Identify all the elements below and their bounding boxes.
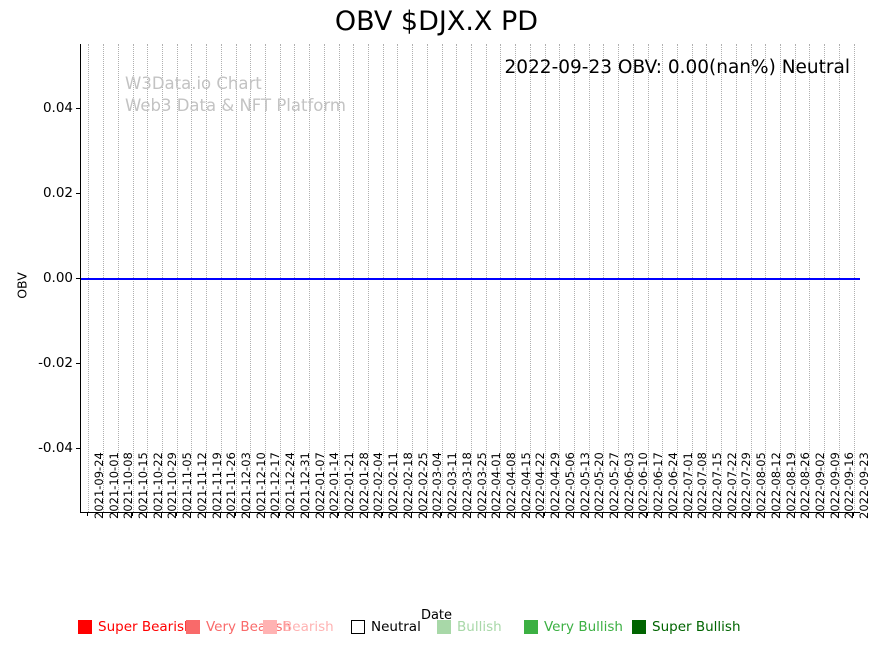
legend-swatch-icon <box>437 620 451 634</box>
plot-area: W3Data.io Chart Web3 Data & NFT Platform… <box>80 44 860 512</box>
x-axis-tick-label: 2021-10-08 <box>121 452 135 519</box>
legend-swatch-icon <box>524 620 538 634</box>
legend-swatch-icon <box>263 620 277 634</box>
x-axis-tick-mark <box>691 512 692 516</box>
x-axis-tick-label: 2022-01-14 <box>327 452 341 519</box>
x-axis-tick-mark <box>514 512 515 516</box>
chart-figure: OBV $DJX.X PD 0.040.020.00-0.02-0.04 OBV… <box>0 0 873 646</box>
x-axis-tick-label: 2022-03-11 <box>445 452 459 519</box>
legend-swatch-icon <box>351 620 365 634</box>
legend-label: Super Bearish <box>98 619 193 635</box>
x-axis-tick-label: 2022-07-08 <box>695 452 709 519</box>
legend-label: Very Bullish <box>544 619 623 635</box>
x-axis-tick-mark <box>264 512 265 516</box>
x-axis-tick-mark <box>573 512 574 516</box>
y-axis-label: OBV <box>15 256 30 316</box>
x-axis-tick-label: 2021-10-29 <box>165 452 179 519</box>
x-axis-tick-label: 2022-03-04 <box>430 452 444 519</box>
x-axis-tick-mark <box>161 512 162 516</box>
x-axis-tick-label: 2021-11-26 <box>224 452 238 519</box>
x-axis-tick-label: 2021-12-10 <box>254 452 268 519</box>
x-axis-tick-label: 2022-05-06 <box>563 452 577 519</box>
x-axis-tick-label: 2022-04-22 <box>533 452 547 519</box>
legend-item[interactable]: Super Bearish <box>78 619 193 635</box>
x-axis-tick-mark <box>750 512 751 516</box>
legend-swatch-icon <box>78 620 92 634</box>
x-axis-tick-mark <box>794 512 795 516</box>
y-axis-tick-label: 0.02 <box>3 185 73 201</box>
x-axis-tick-label: 2022-05-13 <box>578 452 592 519</box>
x-axis-tick-label: 2022-08-12 <box>769 452 783 519</box>
x-axis-tick-label: 2021-11-19 <box>210 452 224 519</box>
x-axis-tick-mark <box>764 512 765 516</box>
x-axis-tick-label: 2021-12-31 <box>298 452 312 519</box>
x-axis-tick-label: 2022-06-24 <box>666 452 680 519</box>
x-axis-tick-label: 2022-06-17 <box>651 452 665 519</box>
legend-swatch-icon <box>186 620 200 634</box>
x-axis-tick-mark <box>676 512 677 516</box>
x-axis-tick-mark <box>308 512 309 516</box>
x-axis-tick-label: 2022-05-27 <box>607 452 621 519</box>
legend-label: Neutral <box>371 619 421 635</box>
x-axis-tick-label: 2021-12-03 <box>239 452 253 519</box>
legend-label: Bullish <box>457 619 502 635</box>
x-axis-tick-label: 2022-07-01 <box>681 452 695 519</box>
x-axis-tick-label: 2022-07-22 <box>725 452 739 519</box>
x-axis-tick-mark <box>602 512 603 516</box>
x-axis-tick-mark <box>470 512 471 516</box>
x-axis-tick-label: 2021-10-22 <box>151 452 165 519</box>
x-axis-tick-label: 2022-07-29 <box>739 452 753 519</box>
x-axis-tick-mark <box>853 512 854 516</box>
legend-swatch-icon <box>632 620 646 634</box>
x-axis-tick-mark <box>235 512 236 516</box>
x-axis-tick-label: 2021-12-24 <box>283 452 297 519</box>
x-axis-tick-mark <box>87 512 88 516</box>
x-axis-tick-mark <box>661 512 662 516</box>
x-axis-tick-label: 2021-10-01 <box>107 452 121 519</box>
y-axis-tick-label: 0.04 <box>3 100 73 116</box>
y-axis-tick-labels: 0.040.020.00-0.02-0.04 <box>0 0 73 646</box>
x-axis-tick-mark <box>808 512 809 516</box>
legend-item[interactable]: Bullish <box>437 619 502 635</box>
x-axis-tick-mark <box>455 512 456 516</box>
x-axis-tick-mark <box>558 512 559 516</box>
x-axis-tick-mark <box>779 512 780 516</box>
x-axis-tick-label: 2022-02-25 <box>416 452 430 519</box>
x-axis-tick-label: 2022-05-20 <box>592 452 606 519</box>
x-axis-tick-mark <box>249 512 250 516</box>
x-axis-tick-mark <box>382 512 383 516</box>
legend-item[interactable]: Bearish <box>263 619 334 635</box>
x-axis-tick-label: 2021-10-15 <box>136 452 150 519</box>
x-axis-tick-label: 2022-09-23 <box>857 452 871 519</box>
legend-item[interactable]: Super Bullish <box>632 619 741 635</box>
x-axis-tick-label: 2022-08-05 <box>754 452 768 519</box>
x-axis-tick-label: 2022-02-04 <box>371 452 385 519</box>
x-axis-tick-mark <box>426 512 427 516</box>
x-axis-tick-label: 2022-03-25 <box>475 452 489 519</box>
x-axis-tick-mark <box>176 512 177 516</box>
x-axis-tick-label: 2022-02-11 <box>386 452 400 519</box>
legend-label: Bearish <box>283 619 334 635</box>
x-axis-tick-mark <box>485 512 486 516</box>
x-axis-tick-label: 2022-08-26 <box>798 452 812 519</box>
x-axis-tick-label: 2022-06-03 <box>622 452 636 519</box>
x-axis-tick-label: 2021-09-24 <box>92 452 106 519</box>
x-axis-tick-mark <box>411 512 412 516</box>
x-axis-tick-mark <box>838 512 839 516</box>
x-axis-tick-label: 2022-08-19 <box>784 452 798 519</box>
x-axis-tick-mark <box>441 512 442 516</box>
x-axis-tick-mark <box>647 512 648 516</box>
x-axis-tick-label: 2022-02-18 <box>401 452 415 519</box>
x-axis-tick-label: 2022-09-02 <box>813 452 827 519</box>
x-axis-tick-label: 2022-09-16 <box>842 452 856 519</box>
x-axis-tick-mark <box>705 512 706 516</box>
x-axis-tick-mark <box>367 512 368 516</box>
x-axis-tick-mark <box>617 512 618 516</box>
x-axis-tick-mark <box>102 512 103 516</box>
chart-legend: Super BearishVery BearishBearishNeutralB… <box>0 619 873 641</box>
x-axis-tick-label: 2022-04-29 <box>548 452 562 519</box>
x-axis-tick-mark <box>220 512 221 516</box>
x-axis-tick-mark <box>293 512 294 516</box>
x-axis-tick-mark <box>735 512 736 516</box>
x-axis-tick-mark <box>338 512 339 516</box>
x-axis-tick-label: 2022-09-09 <box>828 452 842 519</box>
x-axis-tick-mark <box>396 512 397 516</box>
legend-item[interactable]: Very Bullish <box>524 619 623 635</box>
x-axis-tick-label: 2021-11-05 <box>180 452 194 519</box>
x-axis-tick-mark <box>499 512 500 516</box>
x-axis-tick-mark <box>132 512 133 516</box>
x-axis-tick-mark <box>823 512 824 516</box>
x-axis-tick-label: 2022-03-18 <box>460 452 474 519</box>
x-axis-tick-mark <box>544 512 545 516</box>
x-axis-tick-label: 2022-01-21 <box>342 452 356 519</box>
legend-label: Super Bullish <box>652 619 741 635</box>
x-axis-tick-label: 2021-12-17 <box>268 452 282 519</box>
y-axis-tick-label: 0.00 <box>3 270 73 286</box>
x-axis-tick-mark <box>323 512 324 516</box>
x-axis-tick-mark <box>632 512 633 516</box>
x-axis-tick-label: 2021-11-12 <box>195 452 209 519</box>
latest-value-annotation: 2022-09-23 OBV: 0.00(nan%) Neutral <box>505 57 851 78</box>
x-axis-tick-mark <box>190 512 191 516</box>
x-axis-tick-mark <box>205 512 206 516</box>
x-axis-tick-label: 2022-04-08 <box>504 452 518 519</box>
page-title: OBV $DJX.X PD <box>0 6 873 37</box>
x-axis-tick-mark <box>720 512 721 516</box>
x-axis-tick-mark <box>146 512 147 516</box>
x-axis-tick-label: 2022-07-15 <box>710 452 724 519</box>
y-axis-tick-label: -0.04 <box>3 440 73 456</box>
x-axis-tick-mark <box>279 512 280 516</box>
x-axis-tick-mark <box>588 512 589 516</box>
legend-item[interactable]: Neutral <box>351 619 421 635</box>
x-axis-tick-label: 2022-01-07 <box>313 452 327 519</box>
x-axis-tick-mark <box>352 512 353 516</box>
x-axis-tick-label: 2022-06-10 <box>636 452 650 519</box>
x-axis-tick-label: 2022-04-15 <box>519 452 533 519</box>
x-axis-tick-label: 2022-01-28 <box>357 452 371 519</box>
x-axis-tick-label: 2022-04-01 <box>489 452 503 519</box>
y-axis-tick-label: -0.02 <box>3 355 73 371</box>
x-axis-tick-mark <box>117 512 118 516</box>
obv-series-line <box>81 278 860 280</box>
x-axis-tick-mark <box>529 512 530 516</box>
